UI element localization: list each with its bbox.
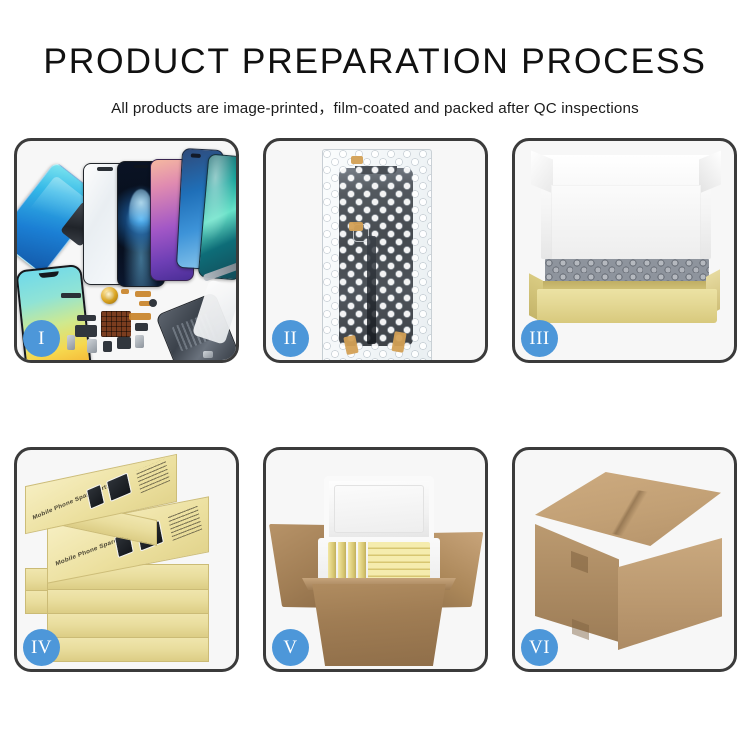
vibration-motor-graphic — [101, 287, 118, 304]
carton-right-face-graphic — [618, 538, 722, 650]
foam-box-lid-graphic — [324, 476, 434, 542]
process-step-panel-3: III — [512, 138, 737, 363]
carton-body-graphic — [308, 584, 450, 666]
component-flex-graphic — [135, 291, 151, 297]
retail-box-front-graphic — [47, 612, 209, 638]
process-step-panel-4: Mobile Phone Spare Parts Mobile Phone Sp… — [14, 447, 239, 672]
box-spec-lines-graphic — [136, 459, 170, 494]
bubble-wrap-bag-graphic — [322, 149, 432, 360]
step-badge-1: I — [23, 320, 60, 357]
logic-board-graphic — [101, 311, 131, 337]
component-sim-tray-graphic — [67, 335, 75, 350]
box-liner-graphic — [551, 185, 701, 261]
box-front-panel-graphic — [537, 289, 717, 323]
box-product-photo-graphic — [106, 472, 132, 502]
component-screw-graphic — [149, 299, 157, 307]
packed-box-item-graphic — [338, 542, 346, 582]
tape-tab-graphic — [349, 222, 363, 231]
step-badge-4: IV — [23, 629, 60, 666]
component-button-graphic — [135, 335, 144, 348]
component-flex-graphic — [129, 313, 151, 320]
flex-cable-graphic — [367, 236, 376, 344]
retail-box-front-graphic — [47, 588, 209, 614]
tape-tab-graphic — [351, 156, 363, 164]
packed-box-item-graphic — [358, 542, 366, 582]
process-step-grid: I II — [14, 138, 738, 678]
packed-box-row-graphic — [368, 542, 430, 582]
component-connector-graphic — [121, 289, 129, 294]
box-spec-lines-graphic — [168, 505, 202, 541]
process-step-panel-2: II — [263, 138, 488, 363]
component-screw-graphic — [203, 351, 213, 358]
process-step-panel-5: V — [263, 447, 488, 672]
component-shield-graphic — [135, 323, 148, 331]
component-camera-graphic — [87, 339, 97, 353]
page-subtitle: All products are image-printed，film-coat… — [0, 80, 750, 118]
component-bracket-graphic — [75, 325, 97, 337]
page-title: PRODUCT PREPARATION PROCESS — [0, 0, 750, 80]
step-badge-3: III — [521, 320, 558, 357]
packed-box-item-graphic — [348, 542, 356, 582]
component-bracket-graphic — [77, 315, 96, 321]
packed-boxes-graphic — [328, 542, 430, 582]
packed-box-item-graphic — [328, 542, 336, 582]
component-speaker-graphic — [103, 341, 112, 352]
retail-box-front-graphic — [47, 636, 209, 662]
process-step-panel-6: VI — [512, 447, 737, 672]
header: PRODUCT PREPARATION PROCESS All products… — [0, 0, 750, 118]
component-module-graphic — [117, 337, 131, 349]
bubble-texture-graphic — [323, 150, 431, 360]
product-preparation-infographic: PRODUCT PREPARATION PROCESS All products… — [0, 0, 750, 750]
step-badge-6: VI — [521, 629, 558, 666]
component-chip-graphic — [61, 293, 81, 298]
step-badge-5: V — [272, 629, 309, 666]
process-step-panel-1: I — [14, 138, 239, 363]
step-badge-2: II — [272, 320, 309, 357]
